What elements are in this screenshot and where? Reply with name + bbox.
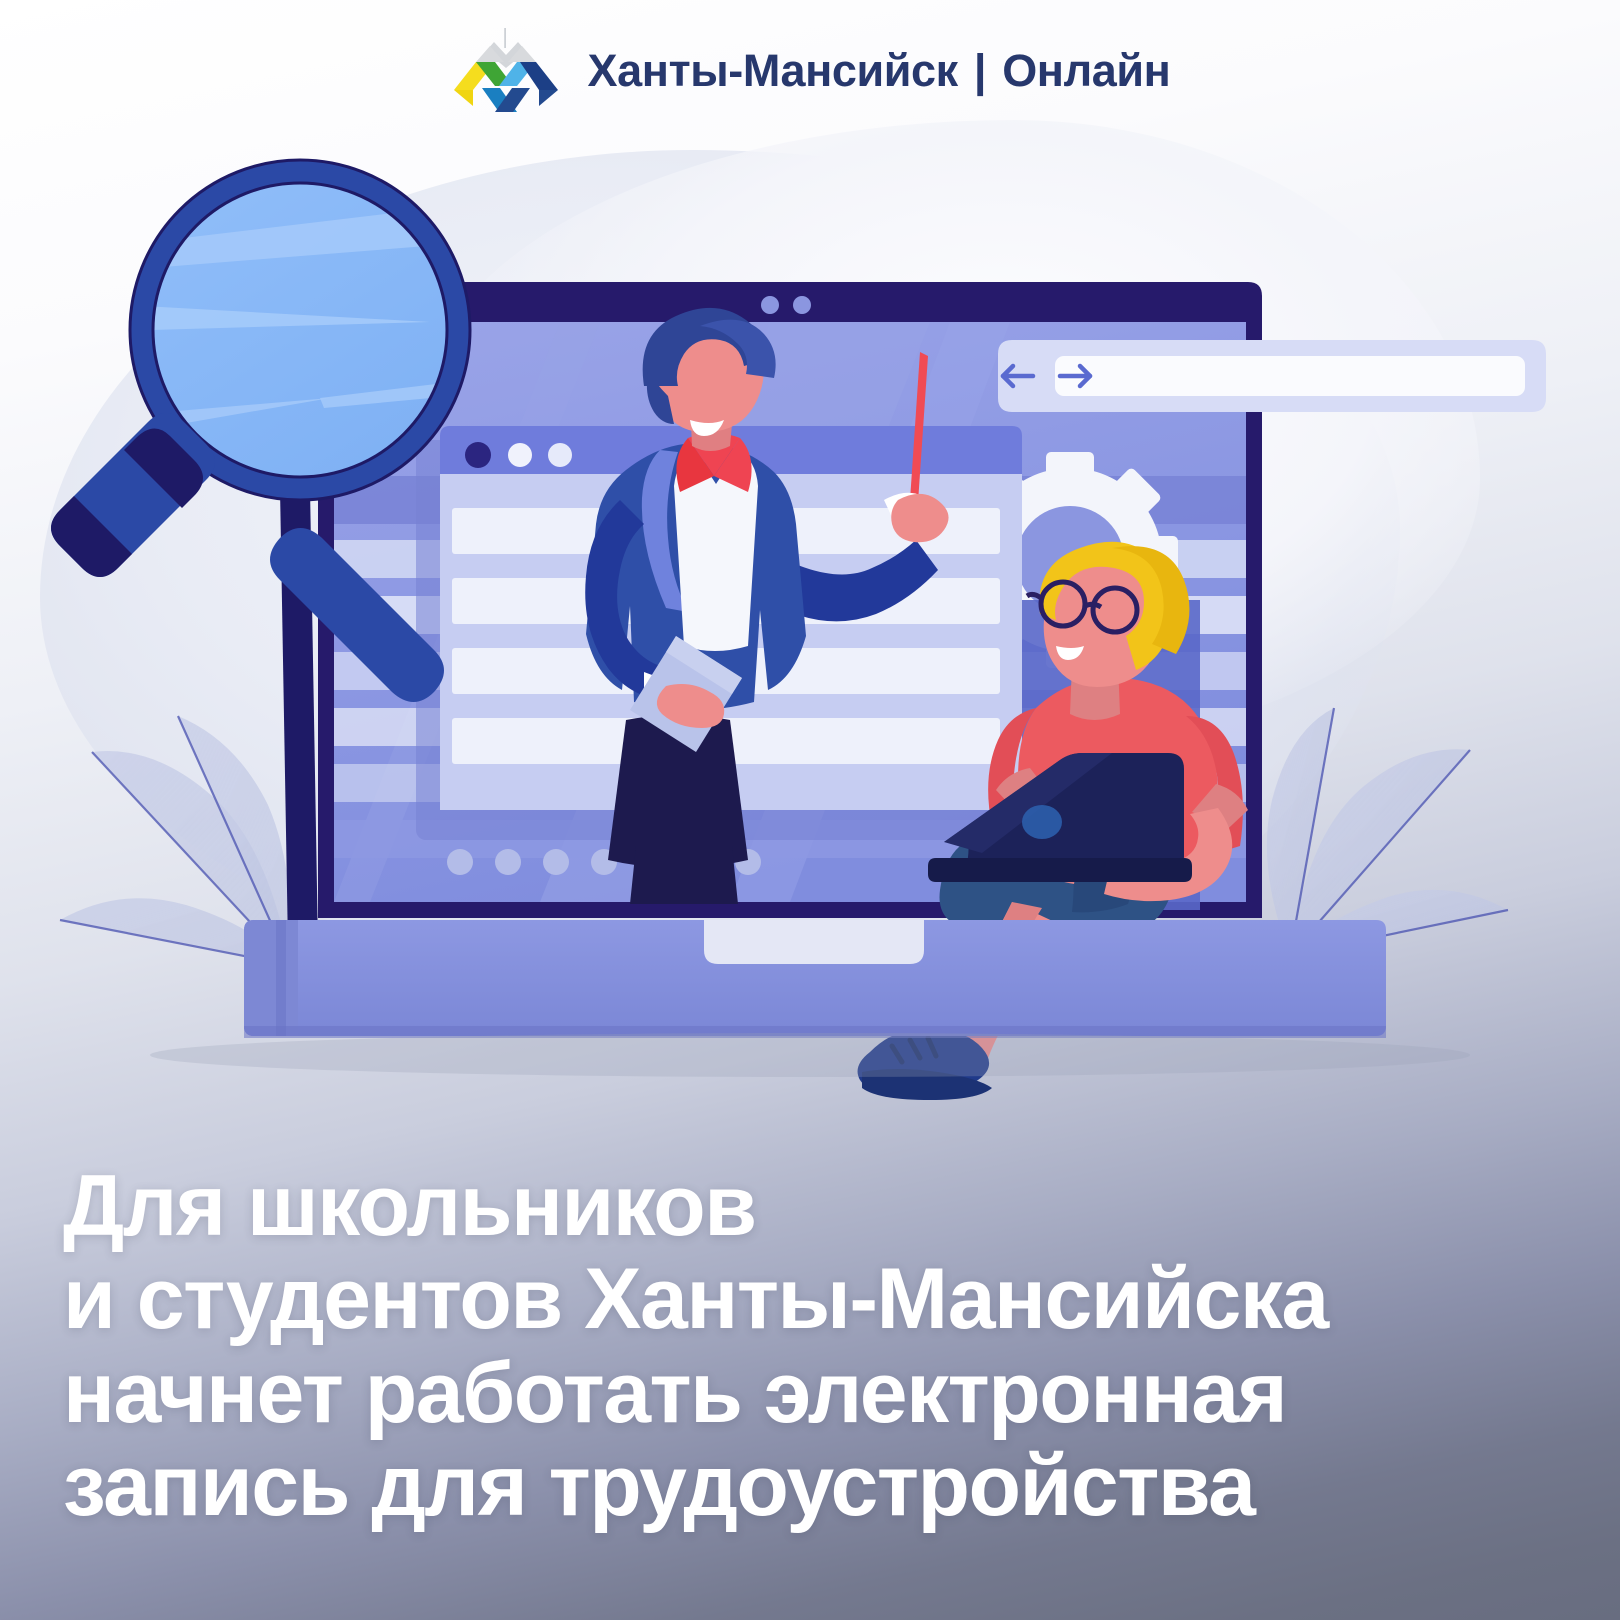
page-title: Для школьников и студентов Ханты-Мансийс… <box>63 1160 1563 1533</box>
brand-section: Онлайн <box>1002 45 1170 96</box>
laptop-base <box>244 920 1386 1038</box>
address-input-field[interactable] <box>1055 356 1525 396</box>
brand-header: Ханты-Мансийск | Онлайн <box>0 28 1620 114</box>
browser-dot-minimize-icon[interactable] <box>508 443 532 467</box>
headline-line-1: Для школьников <box>63 1160 1563 1253</box>
brand-title: Ханты-Мансийск | Онлайн <box>588 45 1171 97</box>
brand-name: Ханты-Мансийск <box>588 45 958 96</box>
poster-root: Ханты-Мансийск | Онлайн <box>0 0 1620 1620</box>
floor-shadow <box>150 1033 1470 1077</box>
brand-separator: | <box>970 45 990 96</box>
headline-line-3: начнет работать электронная <box>63 1347 1563 1440</box>
browser-address-bar[interactable] <box>998 340 1546 412</box>
browser-dot-maximize-icon[interactable] <box>548 443 572 467</box>
headline-line-4: запись для трудоустройства <box>63 1440 1563 1533</box>
laptop-camera-dot-1 <box>761 296 779 314</box>
headline-line-2: и студентов Ханты-Мансийска <box>63 1253 1563 1346</box>
laptop-trackpad[interactable] <box>704 920 924 964</box>
browser-dot-close-icon[interactable] <box>465 442 491 468</box>
leaf-decoration-right-icon <box>1267 708 1508 955</box>
hanty-mansiysk-chevron-logo-icon <box>450 28 562 114</box>
laptop-camera-dot-2 <box>793 296 811 314</box>
